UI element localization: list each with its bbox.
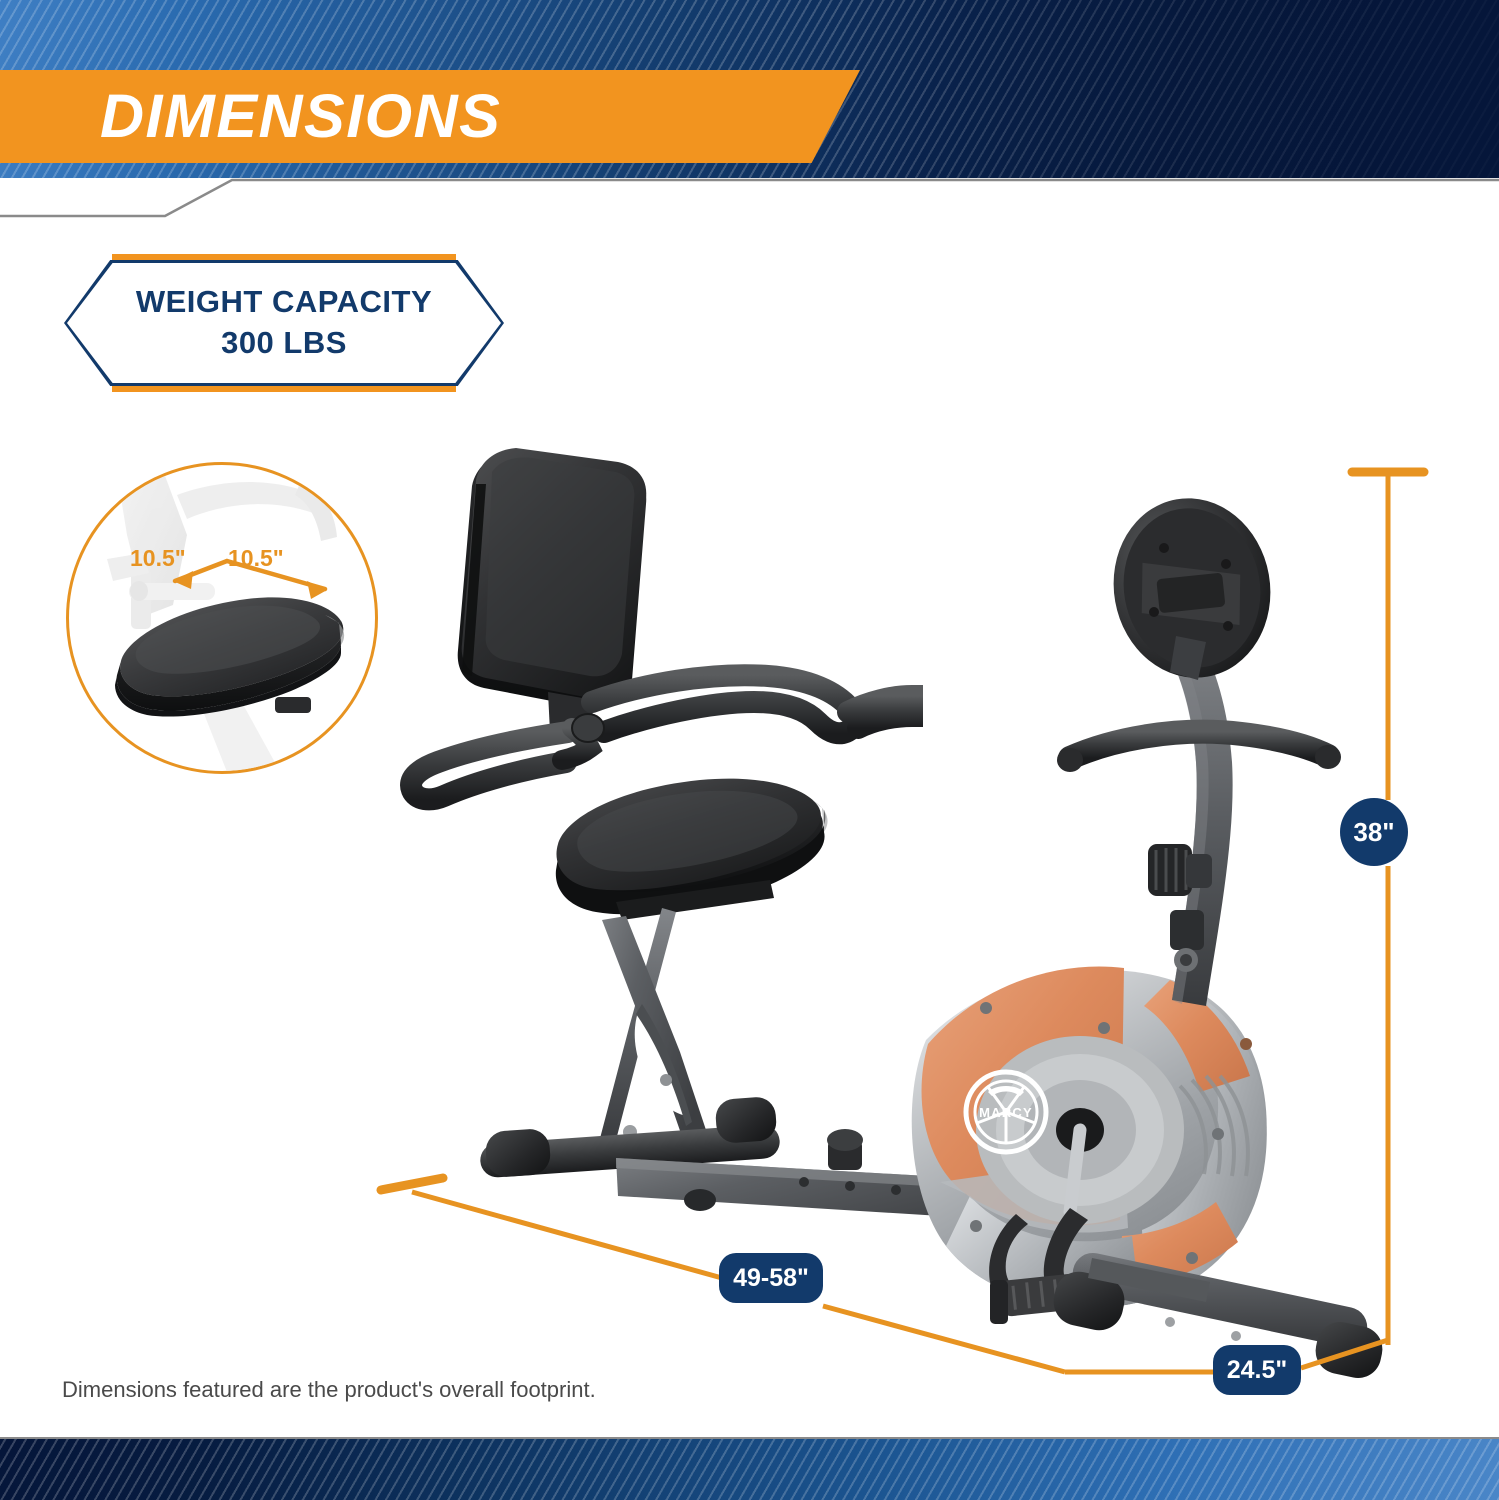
footnote-text: Dimensions featured are the product's ov… (62, 1377, 596, 1403)
height-dimension-line (1352, 472, 1424, 1290)
footer-band (0, 1439, 1499, 1500)
height-dimension-badge: 38" (1340, 798, 1408, 866)
width-dimension-badge: 24.5" (1213, 1345, 1301, 1395)
length-dimension-badge: 49-58" (719, 1253, 823, 1303)
dimensions-infographic: DIMENSIONS WEIGHT CAPACITY 300 LBS (0, 0, 1499, 1500)
